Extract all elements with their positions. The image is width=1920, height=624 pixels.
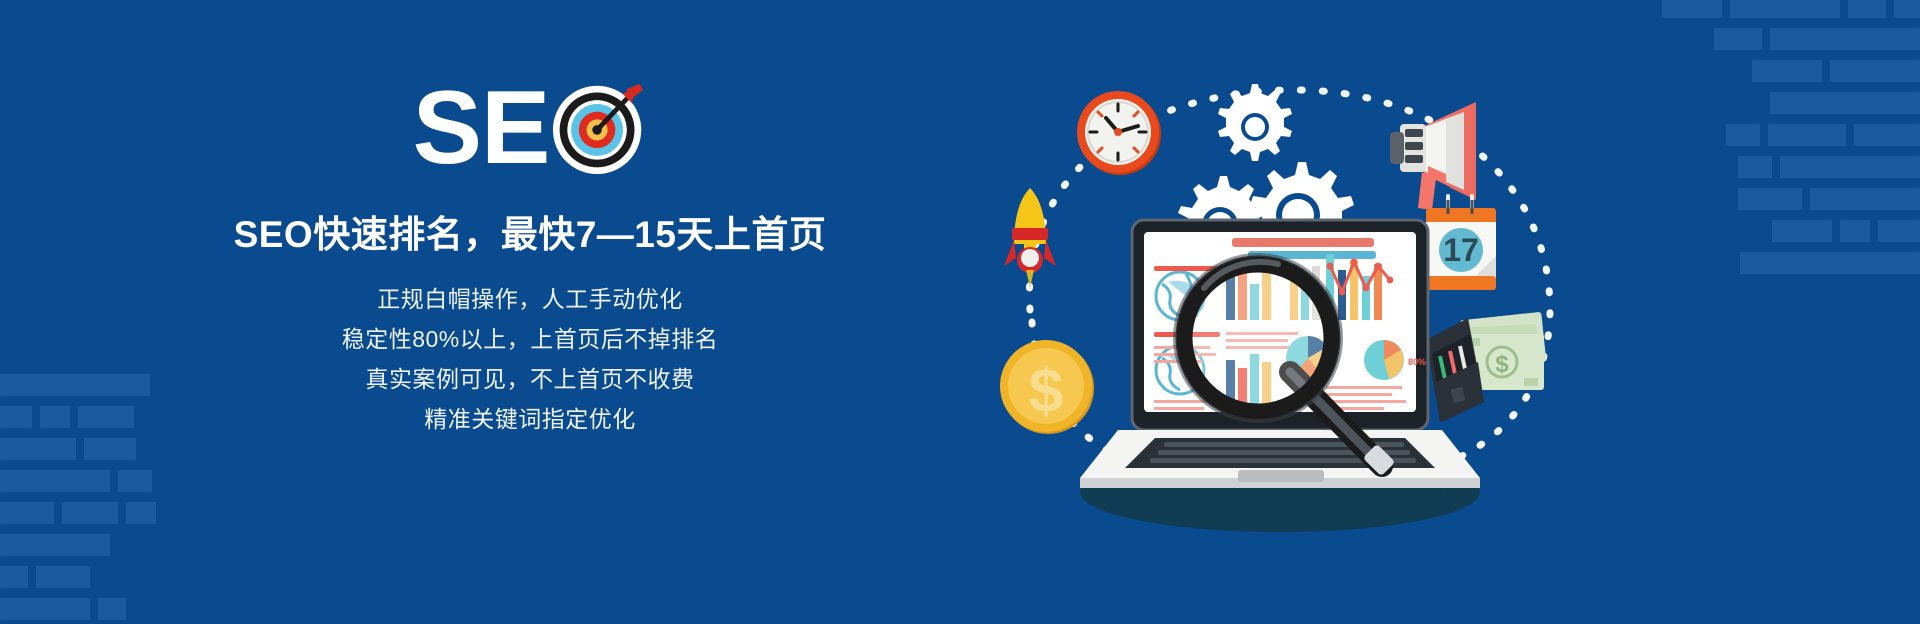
decoration-row (0, 374, 230, 396)
banner-subline-2: 稳定性80%以上，上首页后不掉排名 (210, 328, 850, 351)
decoration-block (1738, 156, 1772, 178)
banner-headline: SEO快速排名，最快7—15天上首页 (210, 204, 850, 258)
decoration-row (0, 406, 230, 428)
decoration-block (0, 566, 28, 588)
decoration-block (0, 598, 90, 620)
decoration-block (1780, 156, 1920, 178)
decoration-block (0, 374, 150, 396)
megaphone-icon (1390, 102, 1476, 210)
decoration-code-blocks-right (1660, 0, 1920, 284)
dashboard-badge-percent: 80% (1408, 357, 1426, 367)
decoration-block (1830, 60, 1920, 82)
coin-icon: $ (1000, 340, 1094, 434)
decoration-block (98, 598, 126, 620)
clock-icon (1077, 91, 1161, 175)
decoration-block (1854, 124, 1920, 146)
decoration-block (0, 534, 110, 556)
decoration-block (1726, 124, 1760, 146)
decoration-block (1752, 60, 1822, 82)
decoration-row (1660, 252, 1920, 274)
decoration-block (118, 470, 152, 492)
calendar-icon: 17 (1426, 196, 1496, 290)
decoration-code-blocks-left (0, 374, 230, 624)
decoration-block (1810, 188, 1920, 210)
decoration-block (1878, 220, 1920, 242)
seo-banner: SE SEO快速排名，最快7—15天上首页 正规白帽操作，人工手动优化 稳定性8… (0, 0, 1920, 624)
decoration-block (1848, 0, 1886, 18)
seo-illustration: $ (990, 60, 1630, 560)
decoration-block (1714, 28, 1762, 50)
decoration-block (1768, 124, 1846, 146)
decoration-row (1660, 92, 1920, 114)
decoration-block (1738, 188, 1802, 210)
banner-text-column: SE SEO快速排名，最快7—15天上首页 正规白帽操作，人工手动优化 稳定性8… (210, 76, 850, 431)
decoration-block (1730, 0, 1840, 18)
decoration-block (78, 406, 134, 428)
banner-subline-4: 精准关键词指定优化 (210, 408, 850, 431)
decoration-row (0, 438, 230, 460)
decoration-block (0, 438, 76, 460)
seo-logo: SE (210, 76, 850, 180)
banner-subline-1: 正规白帽操作，人工手动优化 (210, 288, 850, 311)
decoration-block (40, 406, 70, 428)
svg-text:$: $ (1495, 351, 1509, 378)
decoration-block (1772, 220, 1832, 242)
target-bullseye-icon (551, 80, 647, 176)
banner-subline-3: 真实案例可见，不上首页不收费 (210, 368, 850, 391)
decoration-block (0, 406, 32, 428)
decoration-row (1660, 156, 1920, 178)
decoration-block (62, 502, 118, 524)
decoration-block (1894, 0, 1920, 18)
decoration-row (0, 566, 230, 588)
decoration-row (1660, 220, 1920, 242)
decoration-row (1660, 0, 1920, 18)
decoration-row (0, 470, 230, 492)
rocket-icon (1004, 188, 1056, 288)
decoration-row (1660, 124, 1920, 146)
decoration-block (0, 502, 54, 524)
decoration-row (1660, 28, 1920, 50)
decoration-block (1770, 28, 1920, 50)
decoration-row (1660, 188, 1920, 210)
coin-dollar-symbol: $ (1029, 357, 1063, 426)
seo-logo-letters: SE (413, 76, 550, 180)
calendar-day-number: 17 (1443, 232, 1479, 268)
decoration-block (0, 470, 110, 492)
decoration-row (1660, 60, 1920, 82)
wallet-icon: $ (1426, 312, 1546, 422)
decoration-block (1740, 252, 1920, 274)
decoration-block (84, 438, 136, 460)
decoration-block (126, 502, 156, 524)
decoration-row (0, 502, 230, 524)
decoration-block (1770, 92, 1920, 114)
decoration-block (1840, 220, 1870, 242)
decoration-row (0, 534, 230, 556)
decoration-row (0, 598, 230, 620)
decoration-block (1662, 0, 1722, 18)
decoration-block (36, 566, 90, 588)
